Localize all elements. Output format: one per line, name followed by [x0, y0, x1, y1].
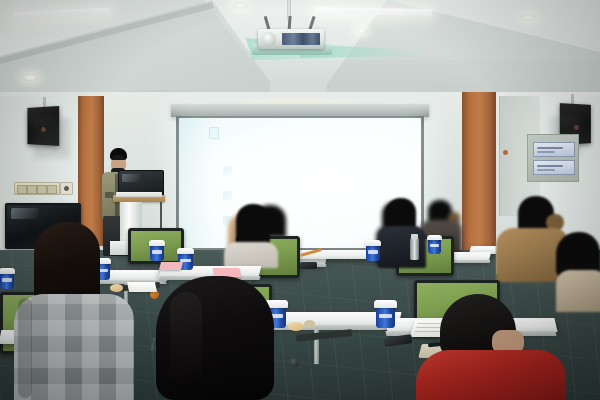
attendee-front-left	[14, 222, 134, 400]
water-bottle-1[interactable]	[410, 238, 419, 260]
podium-keyboard[interactable]	[116, 192, 162, 197]
recessed-downlight-left	[22, 74, 38, 81]
smartphone[interactable]	[300, 262, 317, 269]
snack-item	[304, 320, 315, 328]
attendee-front-right	[416, 294, 566, 400]
speaker-shadow-left	[34, 118, 70, 158]
wood-column-right	[462, 92, 496, 260]
notice-row	[533, 142, 575, 157]
presenter-fringe	[112, 155, 125, 160]
projector-lens	[262, 32, 276, 46]
attendee-mid-center	[222, 204, 278, 268]
recessed-downlight-center-left	[232, 2, 248, 9]
attendee-hair-highlight	[170, 292, 202, 388]
wall-notice-board[interactable]	[527, 134, 579, 182]
wall-outlet-panel[interactable]	[14, 182, 60, 195]
paper-cup-2[interactable]	[376, 300, 395, 328]
notice-row	[533, 160, 575, 175]
bottle-cap	[411, 234, 418, 239]
projector-port-panel	[282, 33, 320, 45]
door-handle-icon[interactable]	[503, 150, 508, 155]
attendee-red-top	[416, 350, 566, 400]
paper-cup-4[interactable]	[150, 240, 164, 261]
recessed-downlight-center-right	[356, 28, 367, 33]
attendee-front-center	[156, 276, 274, 400]
classroom-photo: Welcome to the Lecture	[0, 0, 600, 400]
attendee-coat	[556, 270, 600, 312]
recessed-downlight-right	[520, 14, 536, 21]
pink-paper[interactable]	[159, 262, 183, 270]
snack-plate	[288, 322, 304, 331]
desk-caster	[290, 358, 299, 367]
wall-socket-round[interactable]	[60, 182, 73, 195]
attendee-right-edge	[556, 232, 600, 312]
attendee-sweater	[224, 242, 278, 268]
paper-cup-5[interactable]	[428, 235, 441, 254]
attendee-checkered-coat	[14, 294, 134, 400]
paper-cup-6[interactable]	[366, 240, 380, 261]
paper-cup-9[interactable]	[0, 268, 14, 289]
